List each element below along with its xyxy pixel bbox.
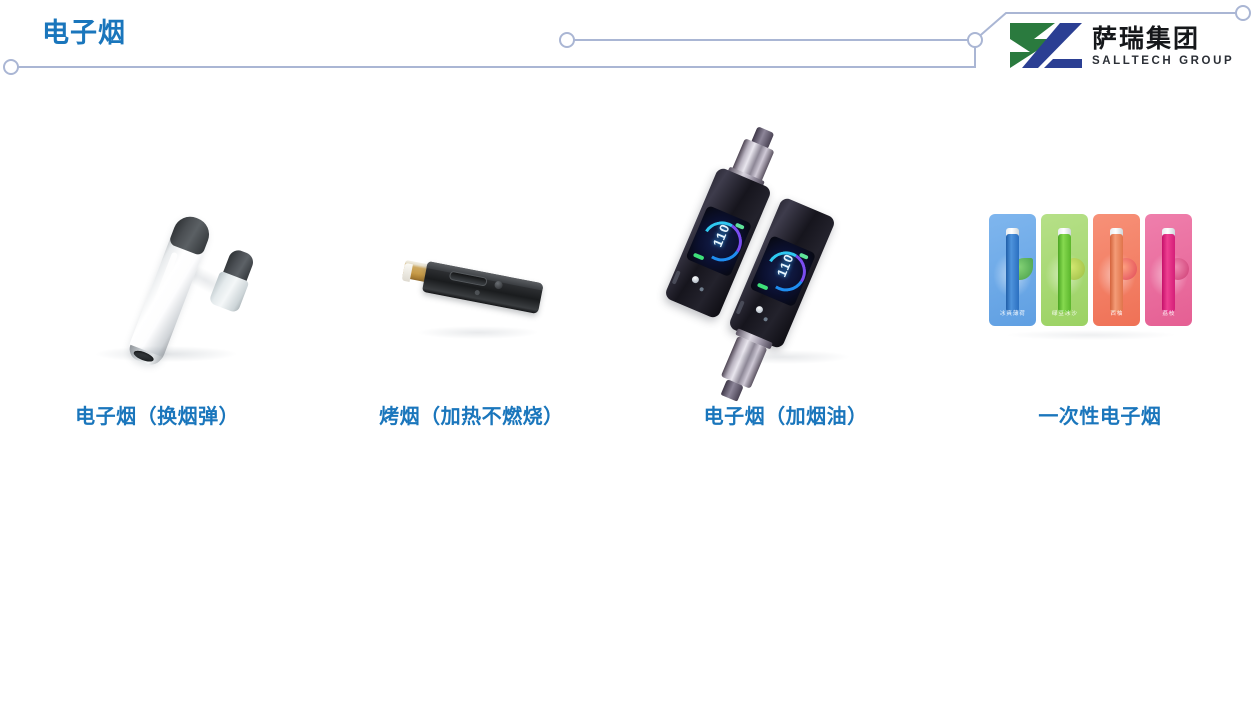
flavor-panel-2: 绿豆冰沙 (1041, 214, 1088, 326)
pod-vape-mouthpiece (168, 212, 214, 257)
hnb-stick-tip (402, 263, 413, 282)
flavor-2-device (1058, 234, 1071, 312)
box-mod-2-screen-bar (756, 283, 768, 291)
flavor-3-device (1110, 234, 1123, 312)
product-caption-heat-not-burn: 烤烟（加热不燃烧） (379, 400, 564, 429)
box-mod-2-screen: 110 (749, 235, 816, 307)
box-mod-1-side-button (671, 270, 680, 284)
box-mod-2-side-button (735, 300, 744, 314)
flavor-2-label: 绿豆冰沙 (1041, 309, 1088, 317)
logo-blue-foot (1044, 59, 1082, 68)
decor-path-lower (11, 40, 975, 67)
brand-text-block: 萨瑞集团 SALLTECH GROUP (1092, 20, 1234, 72)
product-card-pod-vape[interactable]: 电子烟（换烟弹） (0, 150, 314, 470)
decor-node-junction (968, 33, 982, 47)
brand-name-cn: 萨瑞集团 (1092, 25, 1234, 54)
pod-vape-highlight (137, 252, 178, 348)
flavor-3-label: 西柚 (1093, 309, 1140, 317)
flavor-panel-1: 冰爽薄荷 (989, 214, 1036, 326)
pod-cartridge (208, 246, 258, 313)
decor-node-middle (560, 33, 574, 47)
product-grid: 电子烟（换烟弹） 烤烟（加热不燃烧） (0, 150, 1257, 470)
decor-node-left (4, 60, 18, 74)
flavor-panel-3: 西柚 (1093, 214, 1140, 326)
box-mod-2-led (754, 305, 763, 314)
pod-vape-body (125, 212, 214, 369)
box-mod-2-led-small (763, 317, 768, 322)
hnb-ground-shadow (418, 326, 538, 339)
slide-header: 电子烟 萨瑞集团 SALLTECH GROUP (0, 0, 1257, 92)
flavor-4-device (1162, 234, 1175, 312)
product-caption-box-mod: 电子烟（加烟油） (704, 400, 868, 429)
product-image-box-mod: 110 110 (661, 150, 911, 390)
disposable-ground-shadow (1007, 330, 1175, 340)
flavor-4-label: 荔枝 (1145, 309, 1192, 317)
box-mod-1-led-small (699, 287, 704, 292)
box-mod-1-screen-bar (692, 253, 704, 261)
box-mod-1-screen: 110 (685, 205, 752, 277)
box-mod-ground-shadow (721, 350, 849, 364)
product-card-disposable[interactable]: 冰爽薄荷 绿豆冰沙 西柚 (943, 150, 1257, 470)
page-title: 电子烟 (42, 14, 126, 52)
product-image-disposable: 冰爽薄荷 绿豆冰沙 西柚 (975, 150, 1225, 390)
pod-vape-ground-shadow (96, 346, 236, 362)
hnb-device (401, 257, 544, 314)
product-caption-disposable: 一次性电子烟 (1038, 400, 1161, 429)
flavor-1-device (1006, 234, 1019, 312)
flavor-panel-4: 荔枝 (1145, 214, 1192, 326)
salltech-logo-mark (1008, 21, 1084, 71)
product-image-pod-vape (32, 150, 282, 390)
disposable-flavor-board: 冰爽薄荷 绿豆冰沙 西柚 (983, 208, 1199, 332)
product-card-box-mod[interactable]: 110 110 (629, 150, 943, 470)
flavor-1-label: 冰爽薄荷 (989, 309, 1036, 317)
brand-name-en: SALLTECH GROUP (1092, 54, 1234, 69)
brand-logo: 萨瑞集团 SALLTECH GROUP (1008, 16, 1244, 76)
product-caption-pod-vape: 电子烟（换烟弹） (75, 400, 239, 429)
product-image-heat-not-burn (346, 150, 596, 390)
product-card-heat-not-burn[interactable]: 烤烟（加热不燃烧） (314, 150, 628, 470)
box-mod-1-led (690, 275, 699, 284)
